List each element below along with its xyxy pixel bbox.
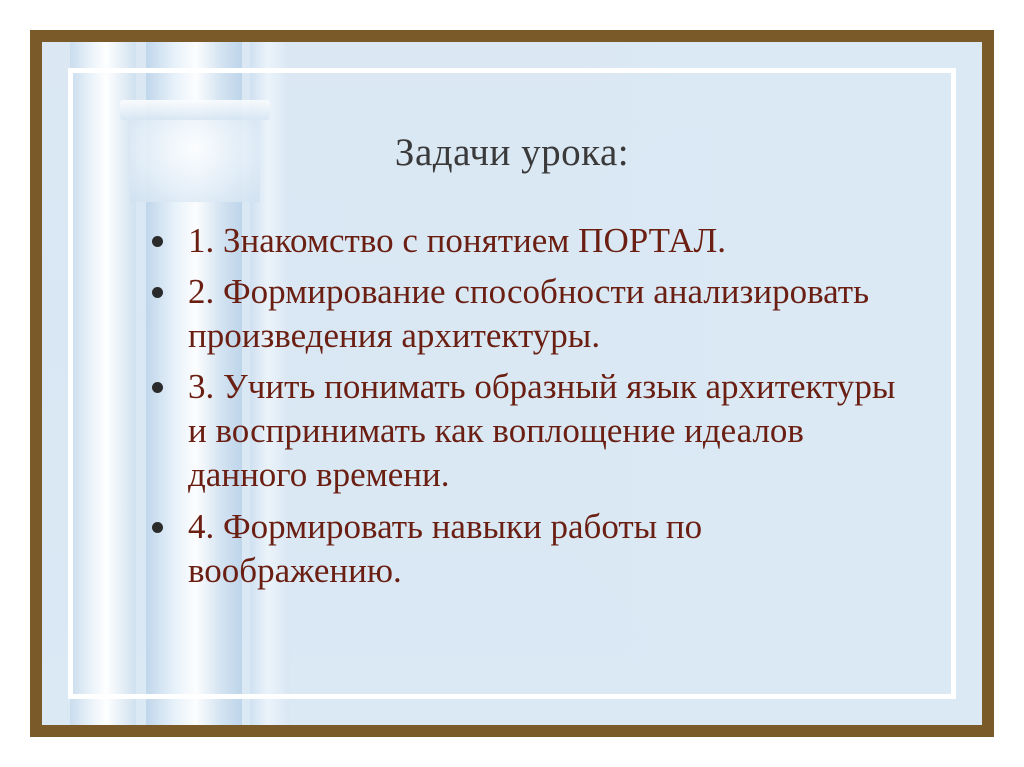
list-item-text: 1. Знакомство с понятием ПОРТАЛ.: [188, 221, 726, 260]
slide-content: Задачи урока: 1. Знакомство с понятием П…: [68, 68, 956, 699]
list-item-text: 4. Формировать навыки работы по воображе…: [188, 507, 702, 590]
list-item: 1. Знакомство с понятием ПОРТАЛ.: [146, 219, 908, 263]
list-item-text: 2. Формирование способности анализироват…: [188, 272, 869, 355]
bullet-dot-icon: [152, 382, 163, 393]
bullet-dot-icon: [152, 236, 163, 247]
slide-outer-frame: Задачи урока: 1. Знакомство с понятием П…: [30, 30, 994, 737]
list-item: 3. Учить понимать образный язык архитект…: [146, 365, 908, 497]
list-item-text: 3. Учить понимать образный язык архитект…: [188, 367, 895, 494]
bullet-dot-icon: [152, 522, 163, 533]
slide-title: Задачи урока:: [116, 130, 908, 175]
objectives-list: 1. Знакомство с понятием ПОРТАЛ. 2. Форм…: [116, 219, 908, 593]
bullet-dot-icon: [152, 287, 163, 298]
list-item: 4. Формировать навыки работы по воображе…: [146, 505, 908, 593]
list-item: 2. Формирование способности анализироват…: [146, 270, 908, 358]
presentation-slide: Задачи урока: 1. Знакомство с понятием П…: [0, 0, 1024, 767]
